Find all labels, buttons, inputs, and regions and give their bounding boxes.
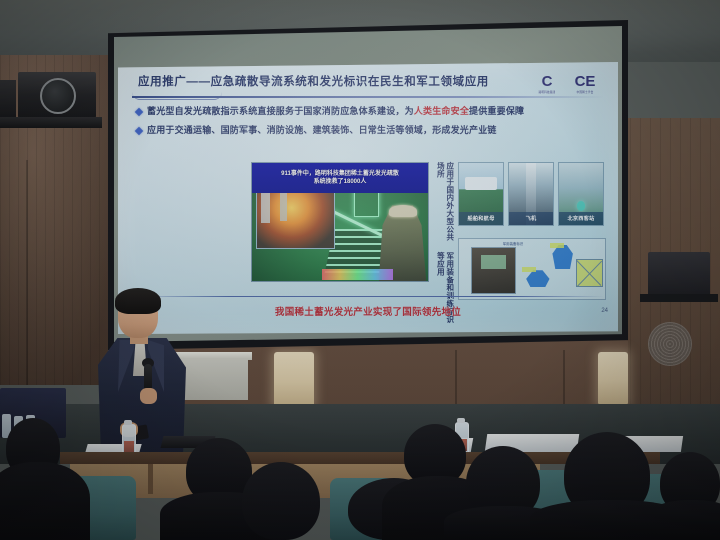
- bullet-item-2: 应用于交通运输、国防军事、消防设施、建筑装饰、日常生活等领域，形成发光产业链: [136, 125, 602, 135]
- audience-head: [242, 462, 320, 540]
- slide-page-number: 24: [601, 308, 608, 314]
- logo-mark-2: CE: [575, 74, 596, 89]
- photo-railway-station: 北京西客站: [558, 162, 604, 226]
- banner-line-1: 911事件中，路明科技集团稀土蓄光发光疏散: [281, 170, 399, 178]
- photo-banner-caption: 911事件中，路明科技集团稀土蓄光发光疏散 系统挽救了18000人: [252, 163, 428, 193]
- slide-bullet-list: 蓄光型自发光疏散指示系统直接服务于国家消防应急体系建设，为人类生命安全提供重要保…: [136, 106, 602, 145]
- main-evacuation-photo: 911事件中，路明科技集团稀土蓄光发光疏散 系统挽救了18000人: [251, 162, 429, 282]
- photo-ship: 船舶和航母: [458, 162, 504, 226]
- photo-caption-station: 北京西客站: [559, 212, 603, 225]
- wall-speaker-right: [648, 252, 710, 296]
- wall-alcove-left: [274, 352, 314, 406]
- audience-shoulders: [646, 500, 720, 540]
- speaker-cone-icon: [40, 78, 76, 114]
- slide-conclusion-text: 我国稀土蓄光发光产业实现了国际领先地位: [118, 304, 618, 318]
- speaker-shelf-left: [0, 117, 102, 128]
- photo-caption-airplane: 飞机: [509, 212, 553, 225]
- speaker-shelf-right: [640, 294, 718, 302]
- logo-group: C 路明科技集团 CE 中国稀土学会: [532, 70, 600, 98]
- firefighter-helmet: [389, 205, 417, 217]
- front-desk-leg: [148, 464, 153, 494]
- bottle-cap: [124, 420, 132, 425]
- luminous-color-chips: [322, 269, 392, 280]
- photo-airplane: 飞机: [508, 162, 554, 226]
- bullet-1-text-after: 提供重要保障: [469, 106, 524, 116]
- vertical-label-public-venues: 应用于国内外大型公共场所: [436, 162, 455, 244]
- bullet-text-1: 蓄光型自发光疏散指示系统直接服务于国家消防应急体系建设，为人类生命安全提供重要保…: [147, 106, 524, 116]
- logo-caption-2: 中国稀土学会: [577, 90, 594, 94]
- military-application-panel: 军用装备标识: [458, 238, 606, 300]
- military-diagram-shape-2: [552, 245, 572, 269]
- presenter-hand-holding-mic: [140, 388, 157, 404]
- company-logo-1: C 路明科技集团: [532, 70, 562, 98]
- wall-alcove-right: [598, 352, 628, 404]
- presenter-hair: [115, 288, 161, 314]
- company-logo-2: CE 中国稀土学会: [570, 70, 600, 98]
- slide-bottom-divider: [134, 296, 604, 297]
- diamond-bullet-icon: [135, 127, 143, 135]
- audience-shoulders: [0, 462, 90, 540]
- bottle-cap: [457, 418, 465, 423]
- lecture-hall-photo: 应用推广——应急疏散导流系统和发光标识在民生和军工领域应用 C 路明科技集团 C…: [0, 0, 720, 540]
- bullet-1-text-before: 蓄光型自发光疏散指示系统直接服务于国家消防应急体系建设，为: [147, 106, 414, 116]
- military-marking-panel: [576, 259, 603, 286]
- bullet-item-1: 蓄光型自发光疏散指示系统直接服务于国家消防应急体系建设，为人类生命安全提供重要保…: [136, 106, 602, 116]
- bullet-text-2: 应用于交通运输、国防军事、消防设施、建筑装饰、日常生活等领域，形成发光产业链: [147, 125, 497, 135]
- military-marking-tag-2: [550, 243, 565, 248]
- bullet-1-highlight: 人类生命安全: [414, 106, 469, 116]
- wall-speaker-small-left: [0, 80, 16, 118]
- military-marking-tag-1: [522, 267, 537, 272]
- logo-mark-1: C: [542, 74, 553, 89]
- banner-line-2: 系统挽救了18000人: [314, 178, 367, 186]
- wall-panel-seam: [455, 350, 457, 404]
- photo-caption-ship: 船舶和航母: [459, 212, 503, 225]
- military-panel-label: 军用装备标识: [503, 241, 523, 246]
- diamond-bullet-icon: [135, 108, 143, 116]
- wall-panel-seam-2: [563, 350, 565, 404]
- presentation-slide: 应用推广——应急疏散导流系统和发光标识在民生和军工领域应用 C 路明科技集团 C…: [118, 62, 618, 334]
- slide-title: 应用推广——应急疏散导流系统和发光标识在民生和军工领域应用: [138, 73, 489, 89]
- military-equipment-photo: [471, 247, 517, 293]
- wall-vent-grille: [648, 322, 692, 366]
- military-diagram-shape-1: [526, 270, 549, 287]
- left-wall-seam: [26, 160, 28, 385]
- application-photo-strip: 船舶和航母 飞机 北京西客站: [458, 162, 604, 226]
- slide-title-row: 应用推广——应急疏散导流系统和发光标识在民生和军工领域应用 C 路明科技集团 C…: [132, 72, 604, 98]
- logo-caption-1: 路明科技集团: [539, 90, 556, 94]
